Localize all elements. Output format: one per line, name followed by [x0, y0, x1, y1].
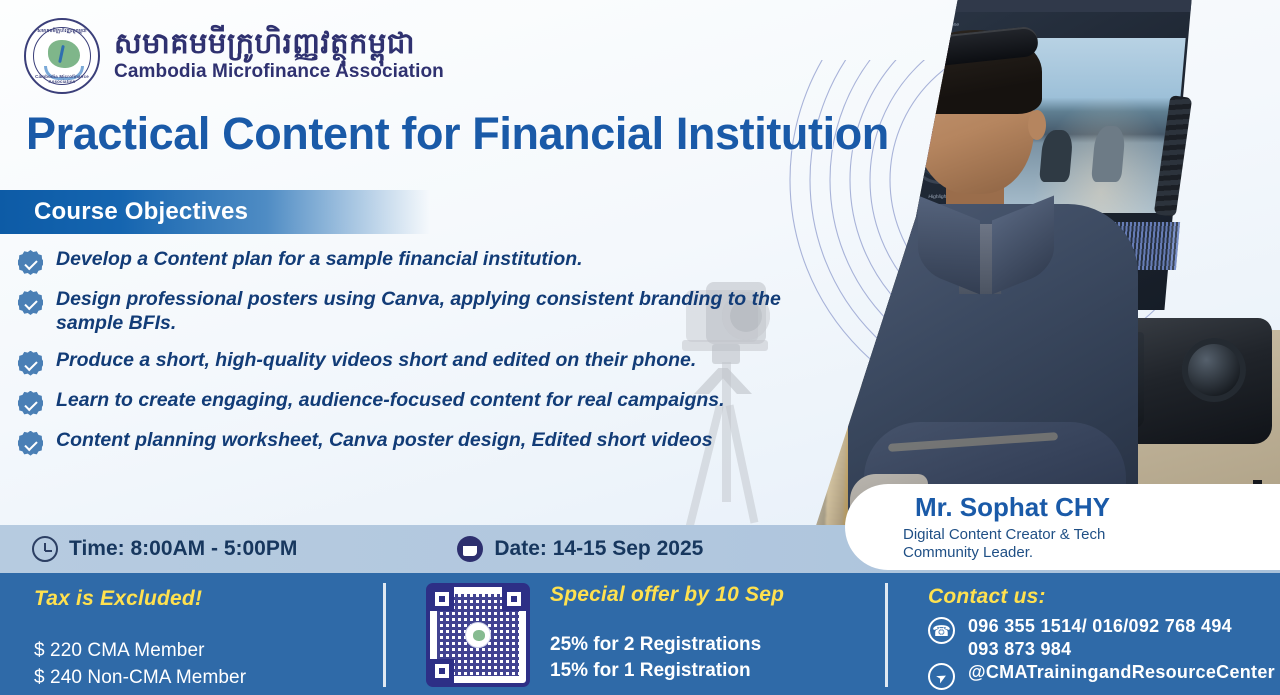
phone-number-2: 093 873 984	[968, 638, 1232, 661]
pricing-block: Tax is Excluded! $ 220 CMA Member $ 240 …	[34, 587, 246, 689]
qr-center-logo	[465, 622, 491, 648]
phone-number-1: 096 355 1514/ 016/092 768 494	[968, 615, 1232, 638]
objective-text: Learn to create engaging, audience-focus…	[56, 389, 725, 413]
brand-header: សមាគមមីក្រូហិរញ្ញវត្ថុកម្ពុជា Cambodia M…	[24, 18, 444, 94]
time-text: Time: 8:00AM - 5:00PM	[69, 537, 297, 561]
date-text: Date: 14-15 Sep 2025	[494, 537, 703, 561]
pricing-heading: Tax is Excluded!	[34, 587, 246, 611]
offer-heading: Special offer by 10 Sep	[550, 583, 784, 607]
check-badge-icon	[18, 250, 43, 275]
speaker-name: Mr. Sophat CHY	[915, 492, 1280, 523]
list-item: Learn to create engaging, audience-focus…	[18, 389, 788, 416]
objective-text: Content planning worksheet, Canva poster…	[56, 429, 713, 453]
phone-icon	[928, 617, 955, 644]
telegram-icon	[928, 663, 955, 690]
clock-icon	[32, 536, 58, 562]
objective-text: Produce a short, high-quality videos sho…	[56, 349, 696, 373]
objective-text: Develop a Content plan for a sample fina…	[56, 248, 583, 272]
list-item: Design professional posters using Canva,…	[18, 288, 788, 336]
calendar-icon	[457, 536, 483, 562]
pricing-line-1: $ 220 CMA Member	[34, 640, 246, 662]
check-badge-icon	[18, 351, 43, 376]
objective-text: Design professional posters using Canva,…	[56, 288, 788, 336]
contact-phone-row[interactable]: 096 355 1514/ 016/092 768 494 093 873 98…	[928, 615, 1275, 660]
seal-top-text: សមាគមមីក្រូហិរញ្ញវត្ថុកម្ពុជា	[26, 28, 98, 35]
speaker-card: Mr. Sophat CHY Digital Content Creator &…	[845, 484, 1280, 570]
cambodia-map-icon	[48, 40, 80, 68]
offer-line-2: 15% for 1 Registration	[550, 660, 784, 682]
org-name-english: Cambodia Microfinance Association	[114, 61, 444, 83]
contact-heading: Contact us:	[928, 585, 1275, 609]
contact-telegram-row[interactable]: @CMATrainingandResourceCenter	[928, 661, 1275, 690]
speaker-role-line2: Community Leader.	[903, 544, 1280, 562]
offer-line-1: 25% for 2 Registrations	[550, 634, 784, 656]
list-item: Develop a Content plan for a sample fina…	[18, 248, 788, 275]
speaker-role-line1: Digital Content Creator & Tech	[903, 526, 1280, 544]
divider	[885, 583, 888, 687]
page-title: Practical Content for Financial Institut…	[26, 108, 889, 160]
telegram-handle: @CMATrainingandResourceCenter	[968, 661, 1275, 684]
footer-bar: Tax is Excluded! $ 220 CMA Member $ 240 …	[0, 573, 1280, 695]
schedule-date: Date: 14-15 Sep 2025	[457, 536, 703, 562]
qr-code[interactable]	[426, 583, 530, 687]
qr-finder-icon	[502, 587, 526, 611]
special-offer-block: Special offer by 10 Sep 25% for 2 Regist…	[426, 583, 784, 687]
seal-bottom-text: Cambodia Microfinance Association	[26, 74, 98, 84]
org-name-khmer: សមាគមមីក្រូហិរញ្ញវត្ថុកម្ពុជា	[114, 29, 444, 59]
qr-finder-icon	[430, 587, 454, 611]
list-item: Content planning worksheet, Canva poster…	[18, 429, 788, 456]
course-objectives-list: Develop a Content plan for a sample fina…	[18, 248, 788, 469]
cma-logo-seal: សមាគមមីក្រូហិរញ្ញវត្ថុកម្ពុជា Cambodia M…	[24, 18, 100, 94]
check-badge-icon	[18, 391, 43, 416]
divider	[383, 583, 386, 687]
course-objectives-heading-bar: Course Objectives	[0, 190, 430, 234]
qr-finder-icon	[430, 659, 454, 683]
list-item: Produce a short, high-quality videos sho…	[18, 349, 788, 376]
check-badge-icon	[18, 431, 43, 456]
contact-block: Contact us: 096 355 1514/ 016/092 768 49…	[928, 585, 1275, 690]
pricing-line-2: $ 240 Non-CMA Member	[34, 667, 246, 689]
check-badge-icon	[18, 290, 43, 315]
course-promo-poster: Midtone Shadow Highlight	[0, 0, 1280, 695]
schedule-time: Time: 8:00AM - 5:00PM	[32, 536, 297, 562]
course-objectives-heading: Course Objectives	[0, 198, 248, 226]
